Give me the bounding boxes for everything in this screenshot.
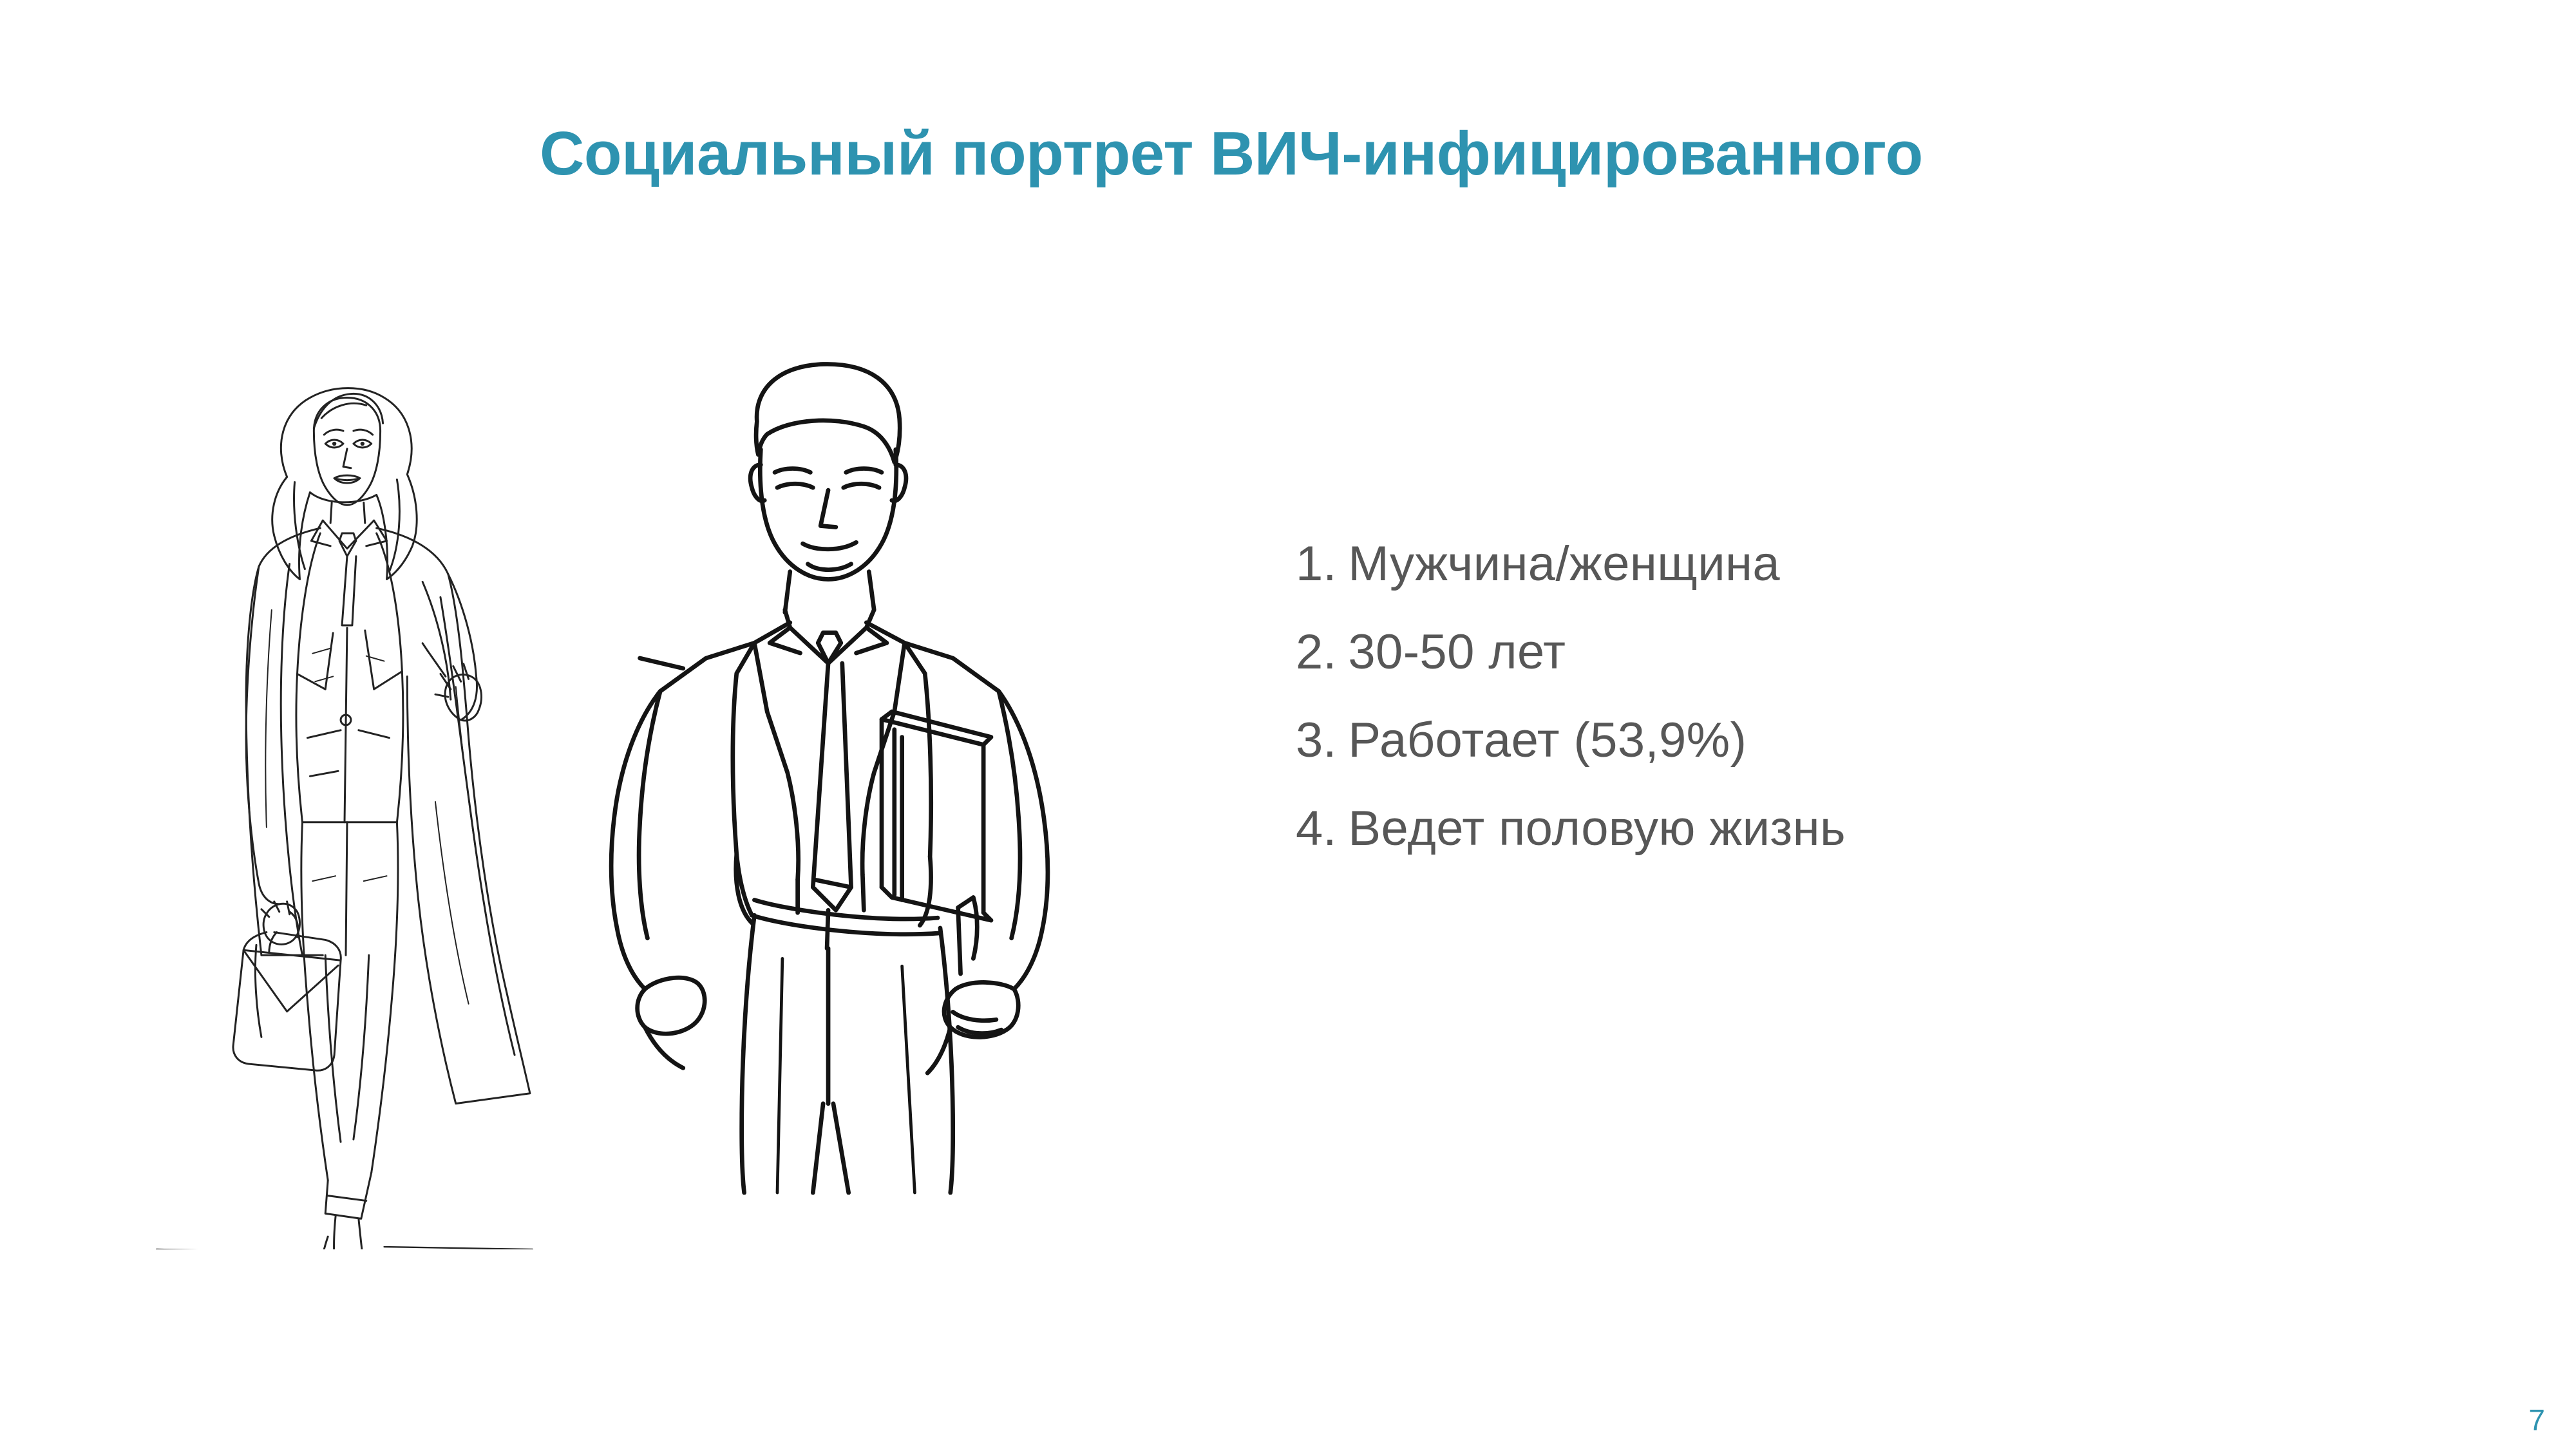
illustration-group — [129, 335, 1101, 1236]
page-number: 7 — [2528, 1405, 2545, 1435]
slide-canvas: Социальный портрет ВИЧ-инфицированного — [0, 0, 2576, 1449]
list-item: 2. 30-50 лет — [1296, 628, 2262, 716]
businesswoman-illustration — [132, 354, 557, 1249]
list-item: 4. Ведет половую жизнь — [1296, 804, 2262, 893]
page-title: Социальный портрет ВИЧ-инфицированного — [540, 118, 2214, 189]
businessman-illustration — [563, 338, 1098, 1195]
list-item: 3. Работает (53,9%) — [1296, 716, 2262, 804]
list-item-label: Работает (53,9%) — [1348, 716, 1747, 765]
list-item-label: Мужчина/женщина — [1348, 540, 1780, 589]
bullet-list: 1. Мужчина/женщина 2. 30-50 лет 3. Работ… — [1296, 540, 2262, 893]
list-item: 1. Мужчина/женщина — [1296, 540, 2262, 628]
list-item-number: 2. — [1296, 628, 1336, 677]
list-item-label: 30-50 лет — [1348, 628, 1566, 677]
list-item-number: 1. — [1296, 540, 1336, 589]
list-item-number: 3. — [1296, 716, 1336, 765]
list-item-label: Ведет половую жизнь — [1348, 804, 1846, 853]
list-item-number: 4. — [1296, 804, 1336, 853]
